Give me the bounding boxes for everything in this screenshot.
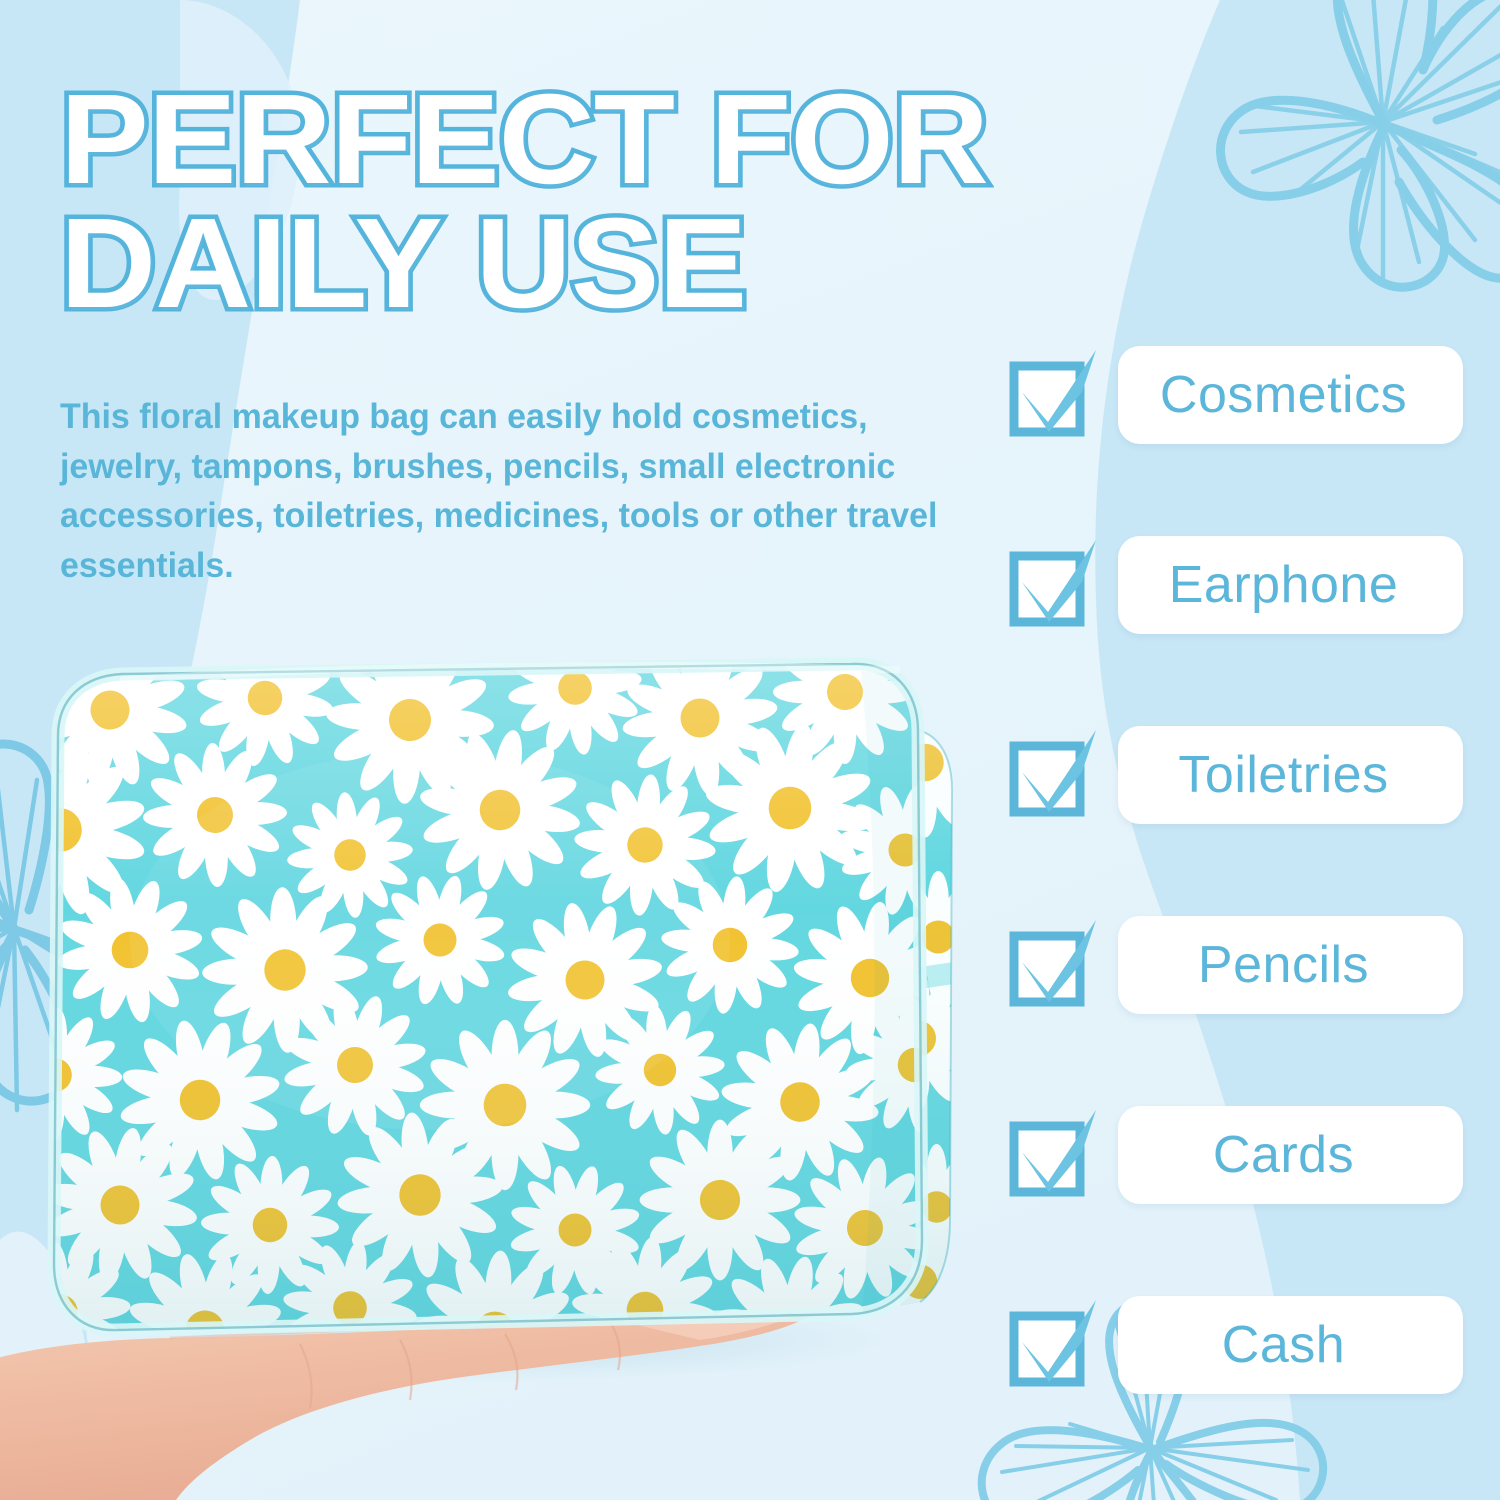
checkbox-checked-icon[interactable] bbox=[1008, 1108, 1100, 1200]
promo-image: PERFECT FOR DAILY USE This floral makeup… bbox=[0, 0, 1500, 1500]
checklist-item-label: Earphone bbox=[1169, 555, 1399, 615]
checklist-item-label: Toiletries bbox=[1178, 745, 1388, 805]
feature-pill[interactable]: Earphone bbox=[1118, 536, 1463, 634]
checklist-item-label: Cards bbox=[1213, 1125, 1354, 1185]
checklist-item[interactable]: Cosmetics bbox=[1000, 338, 1480, 528]
checklist-item-label: Cash bbox=[1222, 1315, 1345, 1375]
feature-pill[interactable]: Toiletries bbox=[1118, 726, 1463, 824]
checklist-item-label: Pencils bbox=[1198, 935, 1369, 995]
checkbox-checked-icon[interactable] bbox=[1008, 728, 1100, 820]
page-title: PERFECT FOR DAILY USE bbox=[60, 78, 1100, 326]
checkbox-checked-icon[interactable] bbox=[1008, 918, 1100, 1010]
checkbox-checked-icon[interactable] bbox=[1008, 1298, 1100, 1390]
checkbox-checked-icon[interactable] bbox=[1008, 538, 1100, 630]
checklist-item[interactable]: Toiletries bbox=[1000, 718, 1480, 908]
product-photo bbox=[0, 640, 1000, 1500]
feature-pill[interactable]: Cash bbox=[1118, 1296, 1463, 1394]
feature-pill[interactable]: Pencils bbox=[1118, 916, 1463, 1014]
checklist-item[interactable]: Cards bbox=[1000, 1098, 1480, 1288]
checklist-item-label: Cosmetics bbox=[1160, 365, 1407, 425]
feature-checklist: Cosmetics Earphone Toiletr bbox=[1000, 338, 1480, 1478]
hibiscus-flower-top-right bbox=[1175, 0, 1500, 340]
checklist-item[interactable]: Earphone bbox=[1000, 528, 1480, 718]
checklist-item[interactable]: Pencils bbox=[1000, 908, 1480, 1098]
checklist-item[interactable]: Cash bbox=[1000, 1288, 1480, 1478]
feature-pill[interactable]: Cards bbox=[1118, 1106, 1463, 1204]
description-text: This floral makeup bag can easily hold c… bbox=[60, 392, 972, 591]
feature-pill[interactable]: Cosmetics bbox=[1118, 346, 1463, 444]
checkbox-checked-icon[interactable] bbox=[1008, 348, 1100, 440]
